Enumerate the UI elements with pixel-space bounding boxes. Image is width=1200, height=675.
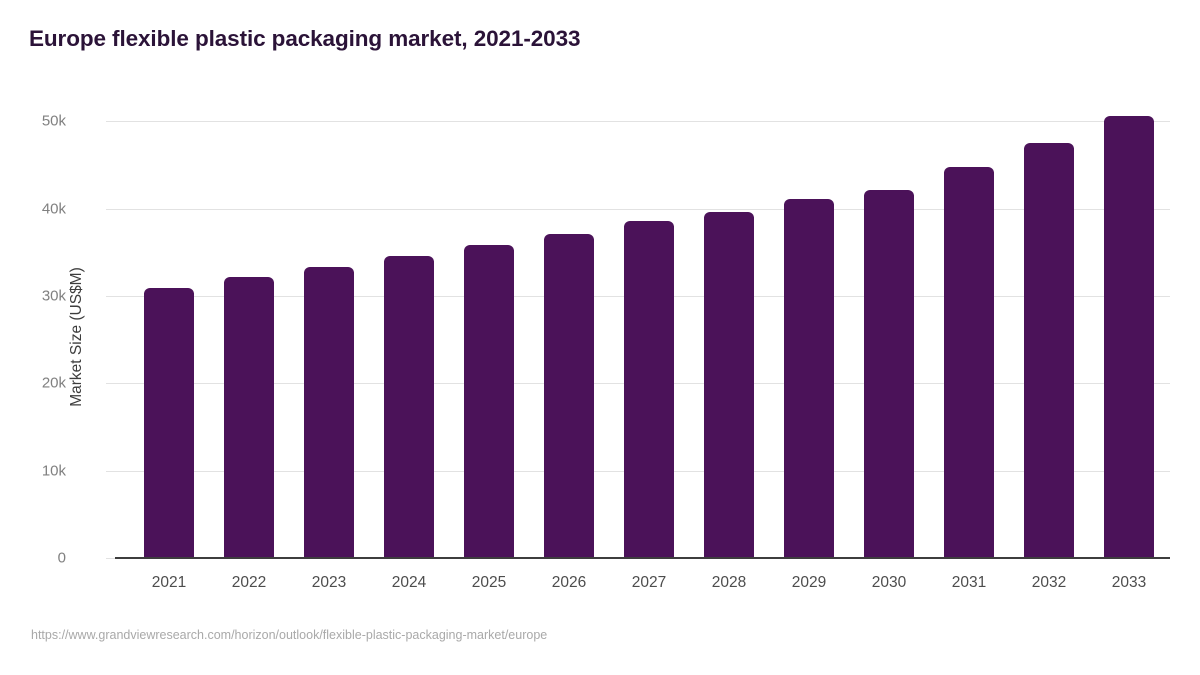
y-axis-tick-mark (106, 209, 115, 210)
y-axis-tick-mark (106, 558, 115, 559)
y-axis-tick-label: 10k (0, 462, 66, 479)
x-axis-tick-label: 2029 (769, 574, 849, 592)
bar-group (369, 116, 449, 558)
source-url[interactable]: https://www.grandviewresearch.com/horizo… (31, 628, 547, 642)
bar[interactable] (944, 167, 994, 558)
y-axis-tick-label: 20k (0, 375, 66, 392)
bar[interactable] (464, 245, 514, 558)
bar-group (529, 116, 609, 558)
x-axis-tick-label: 2021 (129, 574, 209, 592)
bar-group (609, 116, 689, 558)
x-axis-tick-label: 2025 (449, 574, 529, 592)
x-axis-tick-label: 2027 (609, 574, 689, 592)
bar-group (689, 116, 769, 558)
bar[interactable] (384, 256, 434, 558)
bar[interactable] (304, 267, 354, 558)
x-axis-tick-label: 2026 (529, 574, 609, 592)
page-title: Europe flexible plastic packaging market… (29, 26, 580, 52)
bar[interactable] (784, 199, 834, 558)
bar[interactable] (864, 190, 914, 558)
y-axis-tick-label: 0 (0, 550, 66, 567)
y-axis-title: Market Size (US$M) (68, 267, 86, 407)
x-axis-tick-label: 2030 (849, 574, 929, 592)
bar-group (769, 116, 849, 558)
y-axis-tick-label: 30k (0, 287, 66, 304)
bar-group (449, 116, 529, 558)
bar-group (929, 116, 1009, 558)
bar-group (849, 116, 929, 558)
x-axis-line (115, 557, 1170, 559)
bar[interactable] (144, 288, 194, 558)
bar[interactable] (1024, 143, 1074, 558)
x-axis-tick-label: 2028 (689, 574, 769, 592)
chart-canvas: Europe flexible plastic packaging market… (0, 0, 1200, 675)
y-axis-tick-mark (106, 121, 115, 122)
bar[interactable] (224, 277, 274, 558)
bar-group (209, 116, 289, 558)
y-axis-tick-mark (106, 471, 115, 472)
y-axis-tick-label: 50k (0, 113, 66, 130)
bar[interactable] (1104, 116, 1154, 558)
y-axis-tick-label: 40k (0, 200, 66, 217)
bar-group (1009, 116, 1089, 558)
bar-group (129, 116, 209, 558)
x-axis-tick-label: 2031 (929, 574, 1009, 592)
bar[interactable] (624, 221, 674, 558)
bar[interactable] (544, 234, 594, 558)
x-axis-tick-label: 2024 (369, 574, 449, 592)
plot-area: Market Size (US$M) 010k20k30k40k50k (115, 116, 1170, 558)
y-axis-tick-mark (106, 383, 115, 384)
y-axis-tick-mark (106, 296, 115, 297)
bar-group (1089, 116, 1169, 558)
x-axis-tick-label: 2033 (1089, 574, 1169, 592)
x-axis-tick-label: 2023 (289, 574, 369, 592)
x-axis-tick-label: 2022 (209, 574, 289, 592)
x-axis-tick-label: 2032 (1009, 574, 1089, 592)
bar-group (289, 116, 369, 558)
bar[interactable] (704, 212, 754, 558)
